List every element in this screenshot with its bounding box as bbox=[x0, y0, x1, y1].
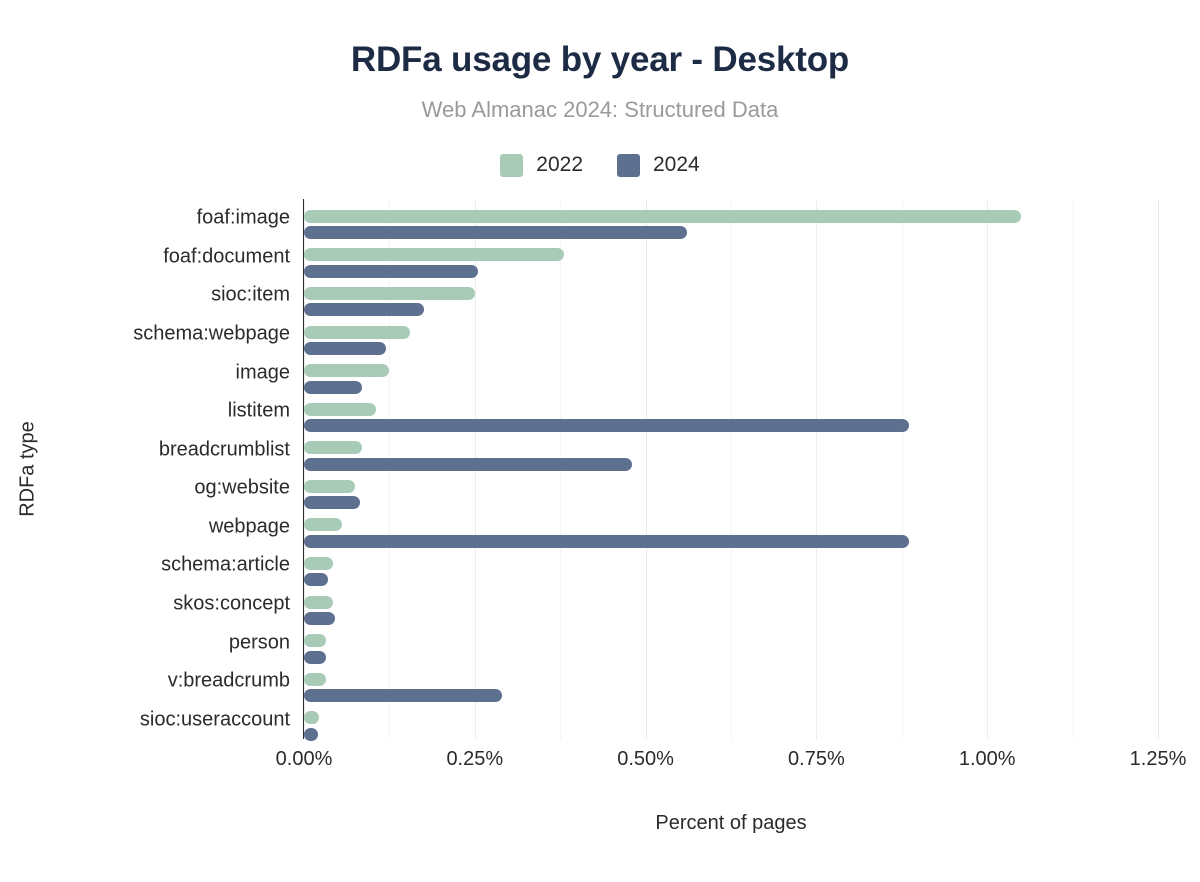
x-tick-1.00%: 1.00% bbox=[959, 748, 1016, 771]
y-tick-foaf:document: foaf:document bbox=[10, 245, 290, 268]
chart-subtitle: Web Almanac 2024: Structured Data bbox=[0, 97, 1200, 123]
x-axis-title: Percent of pages bbox=[304, 812, 1158, 835]
bar-person-2022[interactable] bbox=[304, 634, 326, 647]
legend-item-2024[interactable]: 2024 bbox=[617, 153, 700, 177]
legend-item-2022[interactable]: 2022 bbox=[500, 153, 583, 177]
bar-group-skos:concept bbox=[304, 585, 1158, 624]
y-tick-schema:webpage: schema:webpage bbox=[10, 323, 290, 346]
bar-sioc:useraccount-2022[interactable] bbox=[304, 711, 319, 724]
bar-og:website-2022[interactable] bbox=[304, 480, 355, 493]
y-tick-skos:concept: skos:concept bbox=[10, 593, 290, 616]
bar-webpage-2022[interactable] bbox=[304, 518, 342, 531]
bar-group-schema:article bbox=[304, 546, 1158, 585]
bar-skos:concept-2022[interactable] bbox=[304, 596, 333, 609]
bar-group-foaf:image bbox=[304, 199, 1158, 238]
x-tick-0.00%: 0.00% bbox=[276, 748, 333, 771]
bar-schema:article-2022[interactable] bbox=[304, 557, 333, 570]
bar-schema:webpage-2022[interactable] bbox=[304, 326, 410, 339]
x-tick-0.50%: 0.50% bbox=[617, 748, 674, 771]
bar-group-schema:webpage bbox=[304, 315, 1158, 354]
bar-foaf:document-2022[interactable] bbox=[304, 248, 564, 261]
bar-group-listitem bbox=[304, 392, 1158, 431]
bar-group-sioc:item bbox=[304, 276, 1158, 315]
bar-group-og:website bbox=[304, 469, 1158, 508]
bar-group-breadcrumblist bbox=[304, 430, 1158, 469]
x-tick-0.75%: 0.75% bbox=[788, 748, 845, 771]
legend-label: 2024 bbox=[653, 153, 700, 177]
x-axis-tick-labels: 0.00%0.25%0.50%0.75%1.00%1.25% bbox=[304, 748, 1158, 778]
y-axis-title: RDFa type bbox=[17, 421, 40, 517]
legend-swatch-icon bbox=[617, 154, 640, 177]
bar-v:breadcrumb-2022[interactable] bbox=[304, 673, 326, 686]
y-tick-image: image bbox=[10, 361, 290, 384]
y-tick-sioc:useraccount: sioc:useraccount bbox=[10, 708, 290, 731]
plot-area bbox=[304, 199, 1158, 739]
bar-group-foaf:document bbox=[304, 238, 1158, 277]
bar-sioc:item-2022[interactable] bbox=[304, 287, 475, 300]
y-axis-tick-labels: foaf:imagefoaf:documentsioc:itemschema:w… bbox=[0, 199, 290, 739]
y-tick-og:website: og:website bbox=[10, 477, 290, 500]
bar-foaf:image-2022[interactable] bbox=[304, 210, 1021, 223]
legend-label: 2022 bbox=[536, 153, 583, 177]
bar-sioc:useraccount-2024[interactable] bbox=[304, 728, 318, 741]
bar-group-webpage bbox=[304, 508, 1158, 547]
y-tick-sioc:item: sioc:item bbox=[10, 284, 290, 307]
bar-listitem-2022[interactable] bbox=[304, 403, 376, 416]
y-tick-schema:article: schema:article bbox=[10, 554, 290, 577]
y-tick-person: person bbox=[10, 631, 290, 654]
bar-image-2022[interactable] bbox=[304, 364, 389, 377]
x-tick-1.25%: 1.25% bbox=[1130, 748, 1187, 771]
y-tick-v:breadcrumb: v:breadcrumb bbox=[10, 670, 290, 693]
bar-group-person bbox=[304, 623, 1158, 662]
chart-legend: 20222024 bbox=[0, 153, 1200, 177]
legend-swatch-icon bbox=[500, 154, 523, 177]
bar-group-sioc:useraccount bbox=[304, 700, 1158, 739]
bar-group-v:breadcrumb bbox=[304, 662, 1158, 701]
bar-group-image bbox=[304, 353, 1158, 392]
x-tick-0.25%: 0.25% bbox=[446, 748, 503, 771]
y-tick-breadcrumblist: breadcrumblist bbox=[10, 438, 290, 461]
y-tick-foaf:image: foaf:image bbox=[10, 207, 290, 230]
y-tick-webpage: webpage bbox=[10, 515, 290, 538]
gridline bbox=[1158, 199, 1159, 739]
y-tick-listitem: listitem bbox=[10, 400, 290, 423]
chart-title: RDFa usage by year - Desktop bbox=[0, 40, 1200, 80]
bar-breadcrumblist-2022[interactable] bbox=[304, 441, 362, 454]
chart-container: RDFa usage by year - Desktop Web Almanac… bbox=[0, 0, 1200, 882]
